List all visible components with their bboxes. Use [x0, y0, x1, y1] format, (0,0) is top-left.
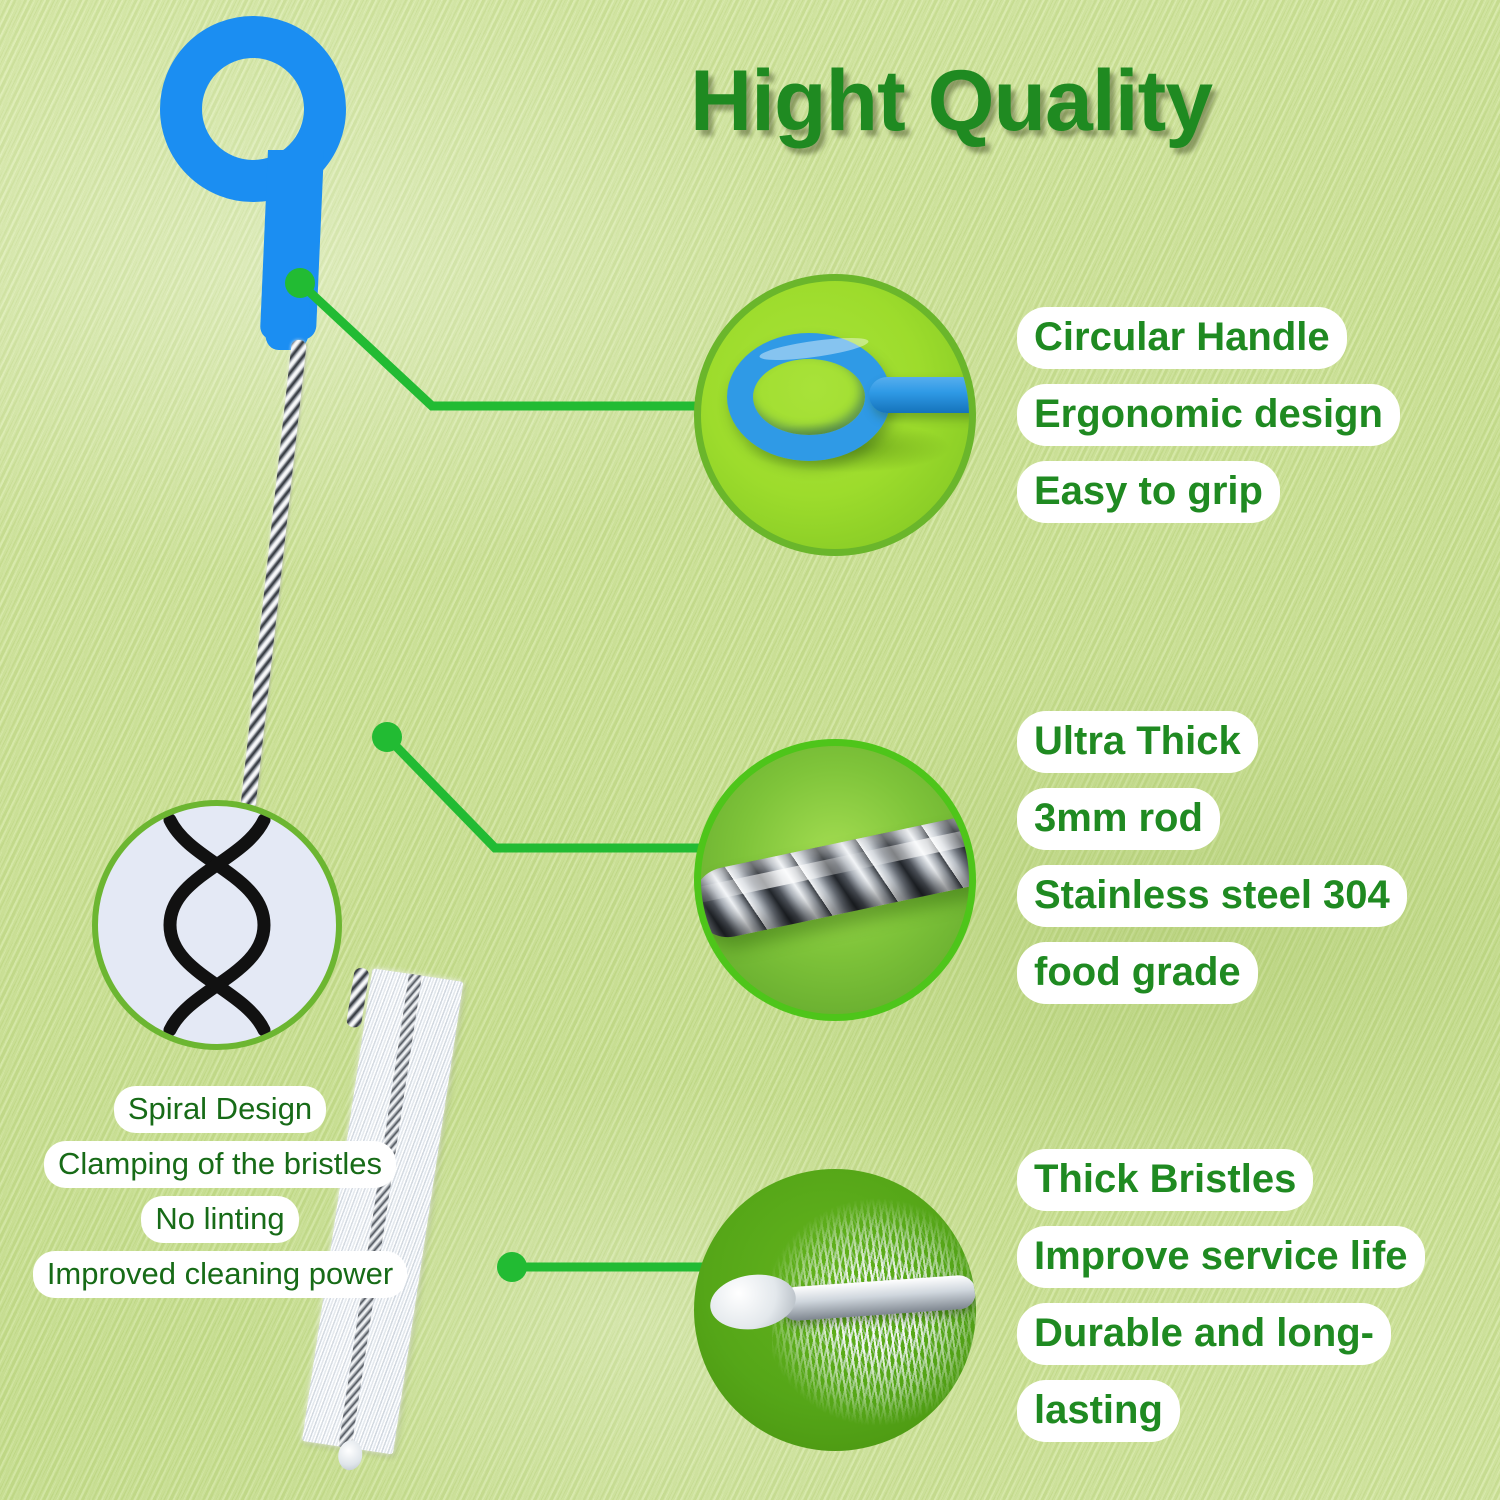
handle-stem-shape — [260, 150, 324, 340]
spiral-line: No linting — [143, 1198, 296, 1241]
callout-line: Thick Bristles — [1020, 1152, 1310, 1208]
callout-text-circular-handle: Circular Handle Ergonomic design Easy to… — [1020, 310, 1397, 541]
spiral-line: Improved cleaning power — [35, 1253, 405, 1296]
callout-image-circular-handle — [694, 274, 976, 556]
infographic-canvas: Hight Quality C — [0, 0, 1500, 1500]
callout-line: Durable and long- — [1020, 1306, 1388, 1362]
page-title: Hight Quality — [690, 52, 1212, 151]
rod-photo-highlight — [694, 824, 976, 904]
connector-dot-bristles — [497, 1252, 527, 1282]
callout-line: lasting — [1020, 1383, 1177, 1439]
connector-line-rod — [387, 737, 700, 848]
callout-line: Ergonomic design — [1020, 387, 1397, 443]
callout-line: Improve service life — [1020, 1229, 1422, 1285]
callout-image-twisted-rod — [694, 739, 976, 1021]
spiral-line: Clamping of the bristles — [46, 1143, 394, 1186]
callout-line: Ultra Thick — [1020, 714, 1255, 770]
callout-text-thick-bristles: Thick Bristles Improve service life Dura… — [1020, 1152, 1422, 1460]
callout-line: food grade — [1020, 945, 1255, 1001]
double-helix-spiral-icon — [98, 806, 336, 1044]
rod-photo — [694, 811, 976, 944]
connector-line-handle — [300, 283, 700, 406]
spiral-design-icon-panel — [92, 800, 342, 1050]
callout-line: 3mm rod — [1020, 791, 1217, 847]
connector-dot-rod — [372, 722, 402, 752]
spiral-line: Spiral Design — [116, 1088, 324, 1131]
callout-text-ultra-thick-rod: Ultra Thick 3mm rod Stainless steel 304 … — [1020, 714, 1404, 1022]
handle-photo-stem — [869, 377, 976, 413]
callout-line: Easy to grip — [1020, 464, 1277, 520]
callout-line: Stainless steel 304 — [1020, 868, 1404, 924]
callout-line: Circular Handle — [1020, 310, 1344, 366]
callout-image-bristles — [694, 1169, 976, 1451]
handle-photo-ring — [727, 333, 891, 461]
spiral-design-text: Spiral Design Clamping of the bristles N… — [10, 1088, 430, 1308]
